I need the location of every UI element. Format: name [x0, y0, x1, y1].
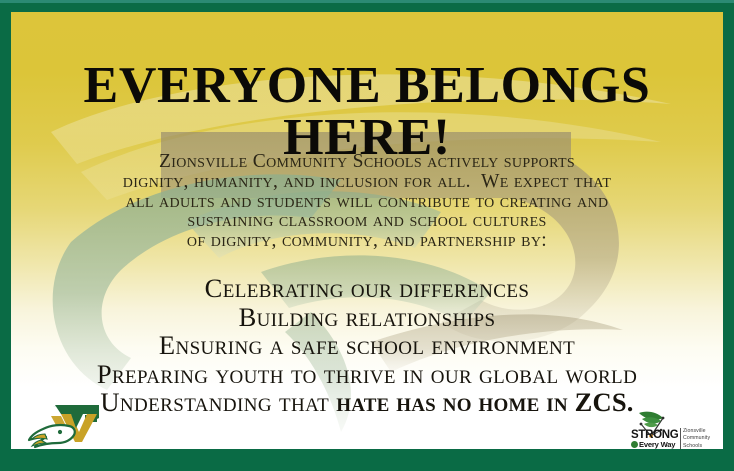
page-title: EVERYONE BELONGS HERE! — [11, 60, 723, 164]
district-lockup: Zionsville Community Schools — [683, 428, 710, 449]
poster-canvas: EVERYONE BELONGS HERE! Zionsville Commun… — [0, 0, 734, 471]
zionsville-eagle-logo — [27, 402, 105, 449]
pledge-line-5-lead: Understanding that — [100, 387, 336, 417]
statement-line-1: Zionsville Community Schools actively su… — [67, 152, 667, 172]
strong-subline: Every Way — [631, 441, 675, 449]
leaf-dot-icon — [631, 441, 638, 448]
strong-in-every-way-logo: STRONG Every Way Zionsville Community Sc… — [617, 408, 713, 449]
pledge-line-5-emphasis: hate has no home in ZCS. — [336, 387, 633, 417]
statement-paragraph: Zionsville Community Schools actively su… — [67, 152, 667, 251]
statement-line-4: sustaining classroom and school cultures — [67, 211, 667, 231]
pledge-line-1: Celebrating our differences — [17, 274, 717, 303]
pledge-line-2: Building relationships — [17, 303, 717, 332]
strong-logo-divider — [680, 428, 681, 449]
pledge-line-4: Preparing youth to thrive in our global … — [17, 360, 717, 389]
pledge-line-3: Ensuring a safe school environment — [17, 331, 717, 360]
statement-line-5: of dignity, community, and partnership b… — [67, 231, 667, 251]
poster-inner-panel: EVERYONE BELONGS HERE! Zionsville Commun… — [11, 12, 723, 449]
district-line-2: Community — [683, 435, 710, 442]
statement-line-2: dignity, humanity, and inclusion for all… — [67, 172, 667, 192]
pledge-list: Celebrating our differences Building rel… — [17, 274, 717, 417]
statement-line-3: all adults and students will contribute … — [67, 192, 667, 212]
district-line-1: Zionsville — [683, 428, 710, 435]
strong-subline-text: Every Way — [639, 440, 675, 449]
poster-content: EVERYONE BELONGS HERE! Zionsville Commun… — [11, 12, 723, 449]
top-hairline-accent — [0, 0, 734, 3]
district-line-3: Schools — [683, 443, 710, 449]
pledge-line-5: Understanding that hate has no home in Z… — [17, 388, 717, 417]
